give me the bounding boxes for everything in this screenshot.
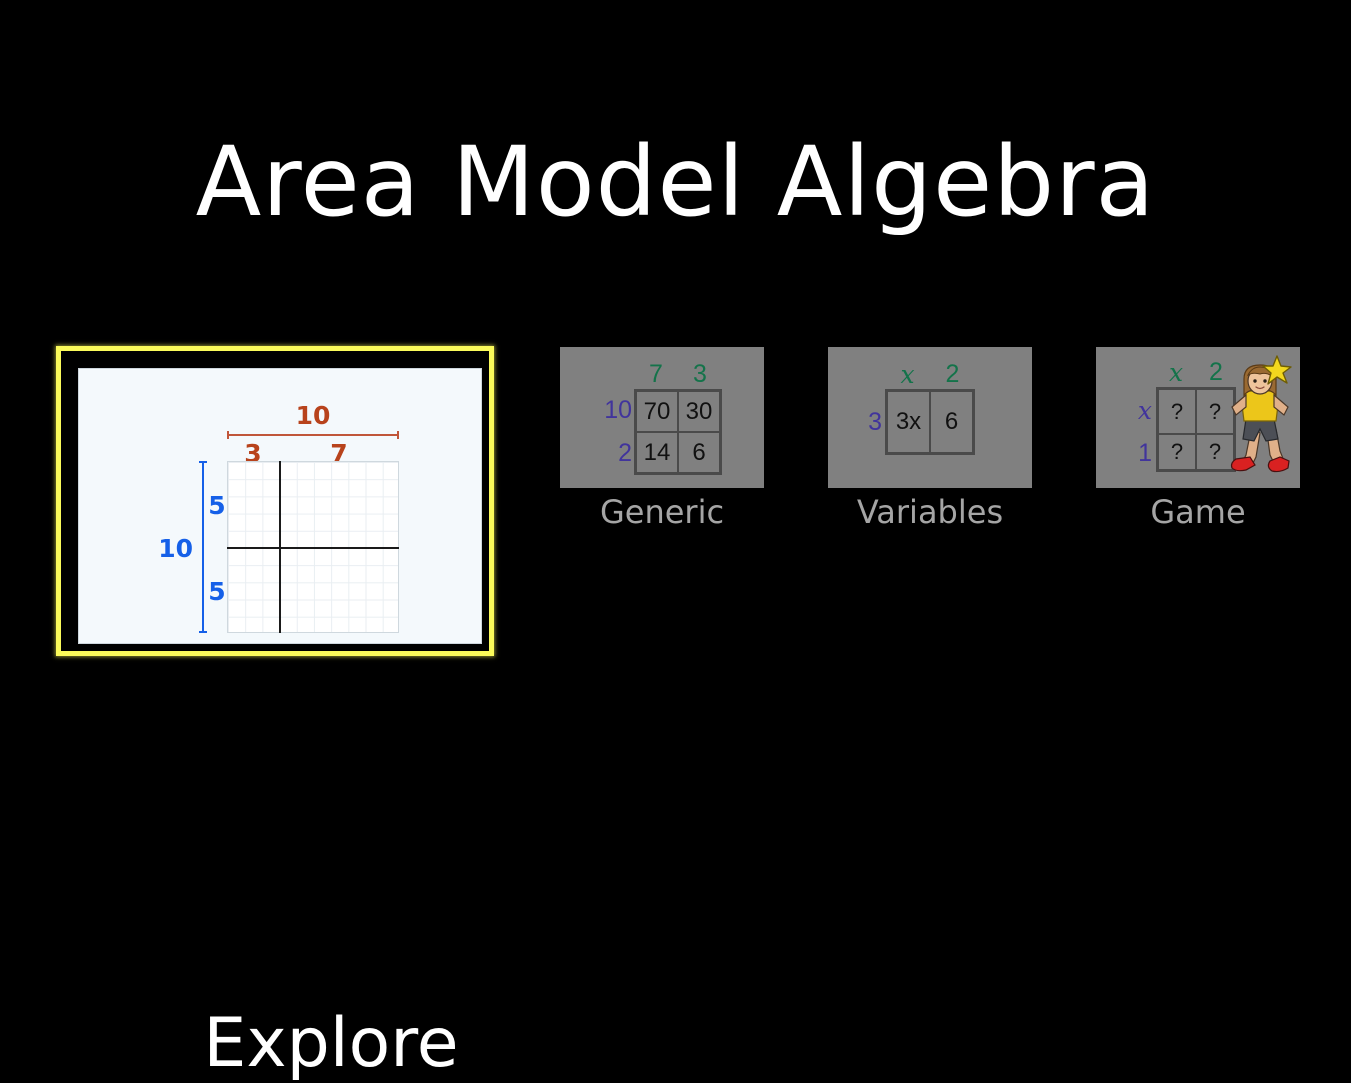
generic-column-label-2: 3 [678,360,722,388]
explore-thumbnail-frame: 10 3 7 10 5 5 [56,346,494,656]
variables-thumbnail: x 2 3 3x 6 [828,347,1032,488]
explore-horizontal-bracket [227,431,399,439]
screen-button-explore[interactable]: 10 3 7 10 5 5 E [56,346,494,656]
generic-area-model: 70 30 14 6 [634,389,722,475]
generic-row-label-1: 10 [594,389,632,432]
explore-area-grid [227,461,399,633]
game-row-label-2: 1 [1122,434,1152,472]
area-model-cell: 6 [930,391,973,453]
screen-button-variables[interactable]: x 2 3 3x 6 Variables [828,347,1032,528]
area-model-cell: 30 [678,391,720,432]
bracket-cap-bottom [199,631,207,633]
bracket-bar [227,434,399,436]
screen-button-game[interactable]: x 2 x 1 ? ? ? ? [1096,347,1300,528]
bracket-bar [202,461,204,633]
area-model-cell: 6 [678,432,720,473]
variables-area-model: 3x 6 [885,389,975,455]
game-column-label-1: x [1156,359,1196,386]
screen-caption-variables: Variables [828,496,1032,528]
area-model-cell: 70 [636,391,678,432]
screen-caption-explore: Explore [112,1010,550,1078]
screen-button-generic[interactable]: 7 3 10 2 70 30 14 6 Generic [560,347,764,528]
variables-column-label-2: 2 [930,360,975,388]
generic-row-label-2: 2 [594,432,632,475]
game-thumbnail: x 2 x 1 ? ? ? ? [1096,347,1300,488]
variables-row-label-1: 3 [850,389,882,455]
screen-caption-game: Game [1096,496,1300,528]
grid-horizontal-partition [227,547,399,549]
star-icon [1262,355,1292,385]
variables-column-label-1: x [885,360,930,388]
explore-vertical-bracket [199,461,207,633]
explore-horizontal-total-label: 10 [227,401,399,430]
area-model-cell: 14 [636,432,678,473]
bracket-cap-top [199,461,207,463]
area-model-cell: 3x [887,391,930,453]
screen-caption-generic: Generic [560,496,764,528]
game-row-label-1: x [1122,387,1152,434]
explore-vertical-total-label: 10 [157,534,193,563]
generic-column-label-1: 7 [634,360,678,388]
generic-thumbnail: 7 3 10 2 70 30 14 6 [560,347,764,488]
page-title: Area Model Algebra [0,134,1351,230]
bracket-cap-left [227,431,229,439]
area-model-cell: ? [1158,434,1196,470]
bracket-cap-right [397,431,399,439]
explore-vertical-part-1-label: 5 [207,491,227,520]
explore-thumbnail-screen: 10 3 7 10 5 5 [78,368,482,644]
explore-vertical-part-2-label: 5 [207,577,227,606]
area-model-cell: ? [1158,389,1196,434]
